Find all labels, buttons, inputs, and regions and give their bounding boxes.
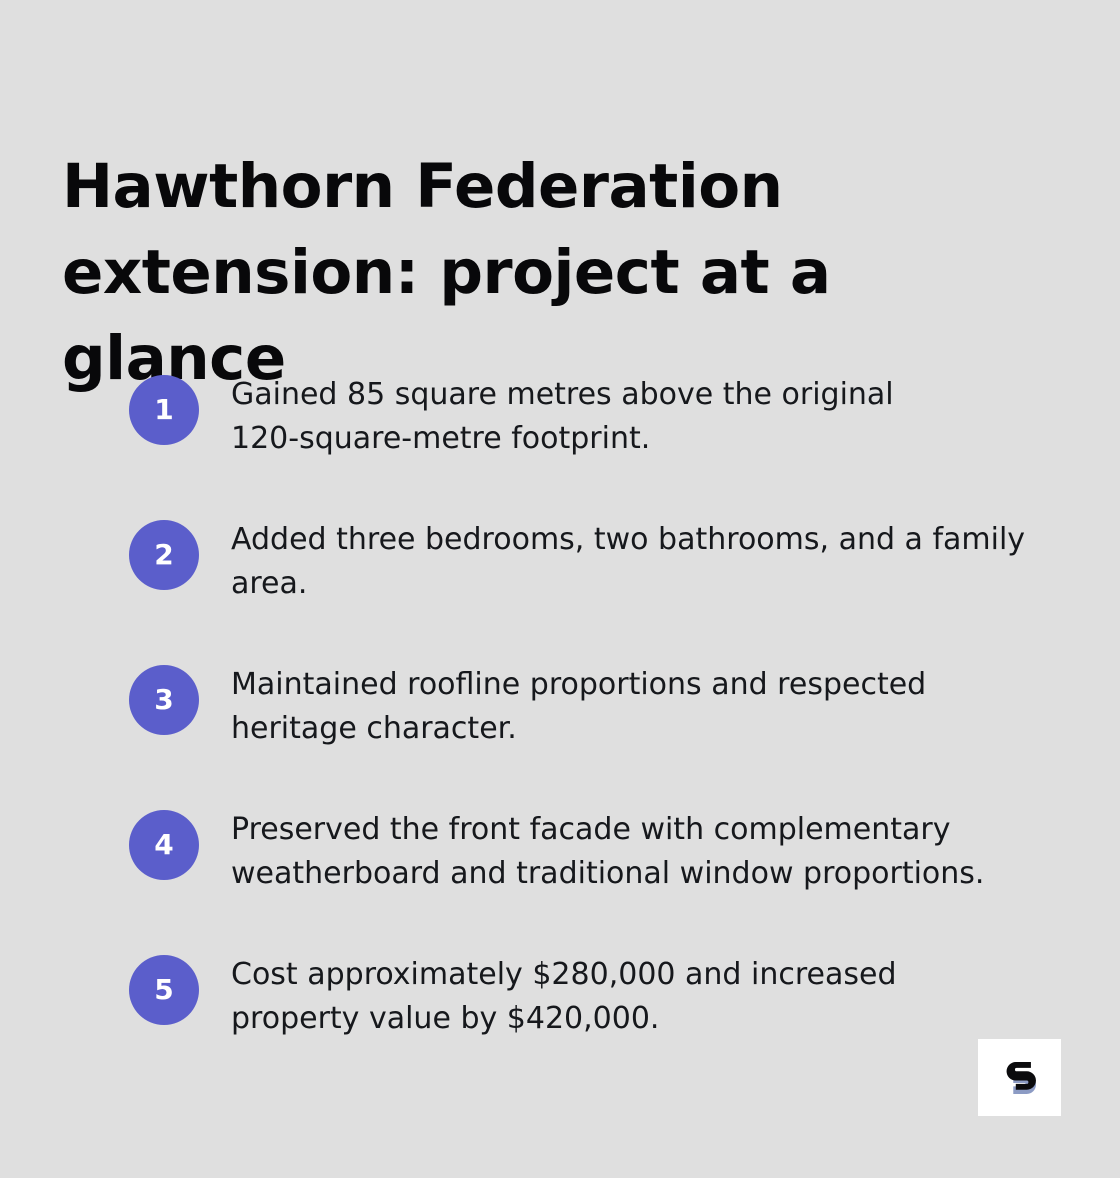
list-item-number-badge: 2 <box>129 520 199 590</box>
infographic-page: Hawthorn Federation extension: project a… <box>0 0 1120 1178</box>
s-monogram-icon <box>999 1057 1041 1099</box>
list-item-text: Gained 85 square metres above the origin… <box>231 373 971 461</box>
list-item-text: Cost approximately $280,000 and increase… <box>231 953 1029 1041</box>
list-item-text: Added three bedrooms, two bathrooms, and… <box>231 518 1029 606</box>
list-item: 3 Maintained roofline proportions and re… <box>129 663 1029 751</box>
list-item: 2 Added three bedrooms, two bathrooms, a… <box>129 518 1029 606</box>
list-item: 4 Preserved the front facade with comple… <box>129 808 1029 896</box>
list-item-number-badge: 5 <box>129 955 199 1025</box>
list-item: 5 Cost approximately $280,000 and increa… <box>129 953 1029 1041</box>
brand-logo <box>978 1039 1061 1116</box>
list-item-text: Preserved the front facade with compleme… <box>231 808 1021 896</box>
numbered-list: 1 Gained 85 square metres above the orig… <box>129 373 1029 1041</box>
page-title: Hawthorn Federation extension: project a… <box>62 144 1042 402</box>
list-item-number-badge: 3 <box>129 665 199 735</box>
list-item-text: Maintained roofline proportions and resp… <box>231 663 961 751</box>
list-item-number-badge: 1 <box>129 375 199 445</box>
list-item-number-badge: 4 <box>129 810 199 880</box>
list-item: 1 Gained 85 square metres above the orig… <box>129 373 1029 461</box>
